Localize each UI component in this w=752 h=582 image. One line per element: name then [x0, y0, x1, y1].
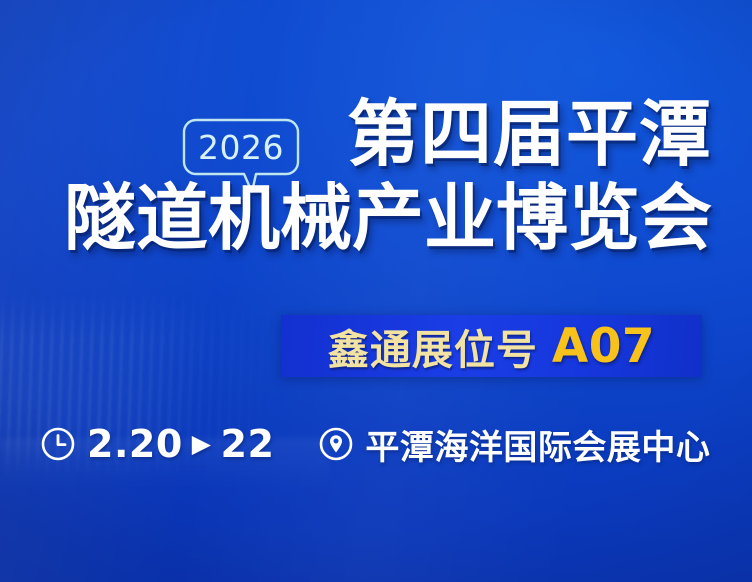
exhibition-poster: 2026 第四届平潭 隧道机械产业博览会 鑫通展位号 A07 2.20 ▶ 22: [0, 0, 752, 582]
headline-line-1: 第四届平潭: [0, 92, 712, 176]
date-start: 2.20: [87, 422, 183, 466]
event-date-item: 2.20 ▶ 22: [40, 422, 274, 466]
background-vignette: [0, 0, 752, 582]
event-venue-item: 平潭海洋国际会展中心: [318, 420, 710, 469]
date-range-arrow-icon: ▶: [192, 431, 212, 456]
event-date: 2.20 ▶ 22: [87, 422, 274, 466]
booth-banner: 鑫通展位号 A07: [281, 315, 702, 377]
booth-number: A07: [552, 319, 655, 374]
headline-line-2: 隧道机械产业博览会: [0, 176, 712, 260]
event-info-row: 2.20 ▶ 22 平潭海洋国际会展中心: [40, 416, 720, 472]
headline: 第四届平潭 隧道机械产业博览会: [0, 92, 712, 260]
booth-label: 鑫通展位号: [328, 316, 538, 376]
clock-icon: [40, 426, 76, 462]
event-venue-name: 平潭海洋国际会展中心: [365, 420, 710, 469]
location-pin-icon: [318, 426, 354, 462]
date-end: 22: [221, 422, 275, 466]
